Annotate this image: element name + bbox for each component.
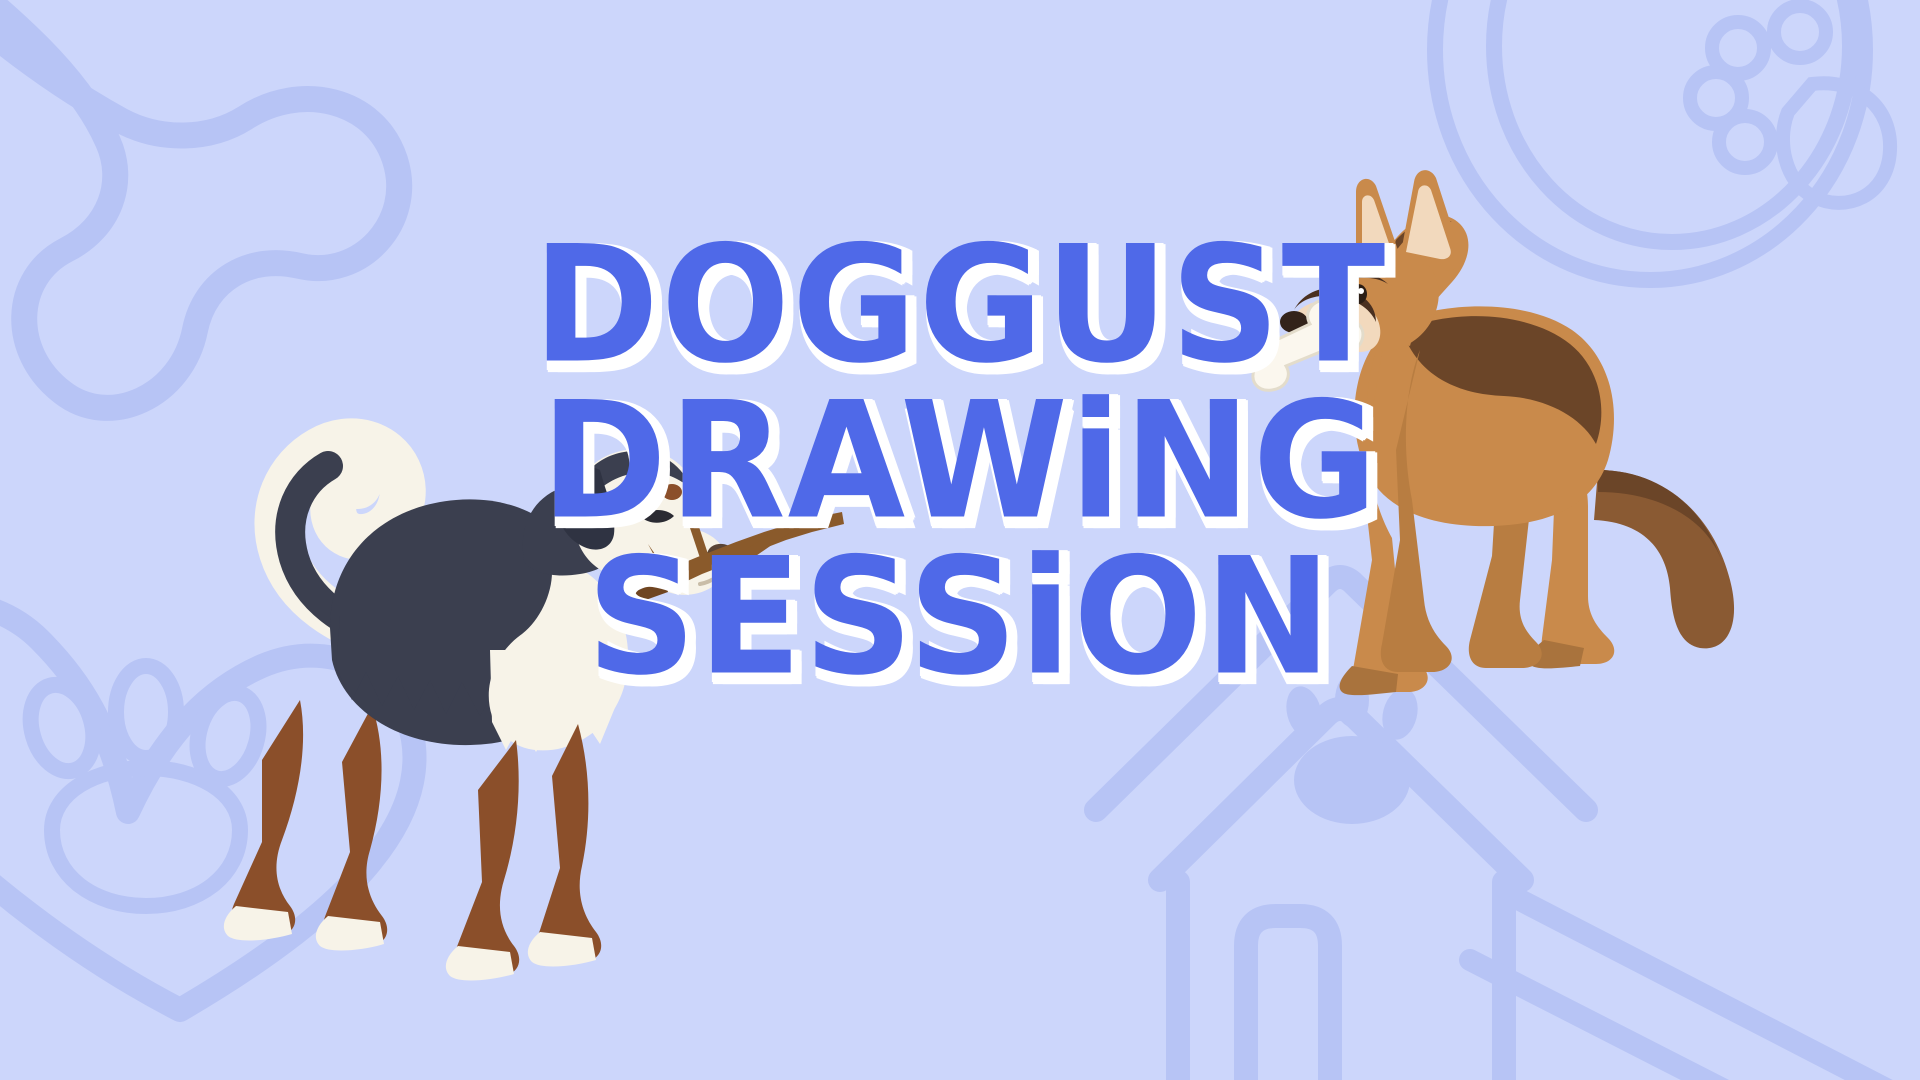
poster-title: DOGGUST DRAWiNG SESSiON [0,228,1920,686]
paw-print-in-dog-house [1281,673,1423,824]
title-line-2: DRAWiNG [0,384,1920,539]
background-decorations [0,0,1920,1080]
paw-print-top-right [1690,6,1890,203]
bernese-mountain-dog [0,0,1920,1080]
heart-outline-bottom-left [0,602,414,1010]
poster-canvas: DOGGUST DRAWiNG SESSiON [0,0,1920,1080]
paw-print-bottom-left [21,666,268,906]
german-shepherd-dog [0,0,1920,1080]
diagonal-stripes-bottom-right [1470,900,1920,1080]
bone-outline-top-left [0,0,399,408]
bone-in-mouth [1235,300,1363,391]
title-line-3: SESSiON [0,540,1920,695]
stick-in-mouth [634,512,844,602]
dog-house-bottom-right [1096,577,1586,1080]
circle-outline-top-right [1435,0,1865,280]
title-line-1: DOGGUST [0,228,1920,383]
